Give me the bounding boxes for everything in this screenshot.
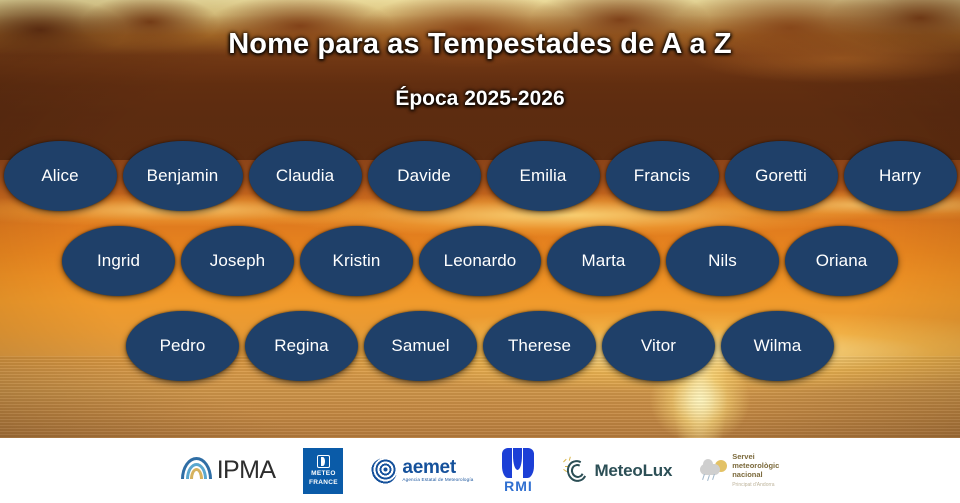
storm-name-pill[interactable]: Benjamin — [123, 141, 243, 211]
meteo-france-glyph-icon — [317, 455, 330, 468]
name-row-3: Pedro Regina Samuel Therese Vitor Wilma — [0, 311, 960, 381]
logo-andorra-line4: Principat d'Andorra — [732, 481, 779, 489]
logo-meteo-france-line2: FRANCE — [309, 479, 338, 487]
season-subtitle: Época 2025-2026 — [0, 87, 960, 111]
partner-logo-bar: IPMA METEO FRANCE aemet Agencia Estatal … — [0, 438, 960, 503]
storm-name-pill[interactable]: Regina — [245, 311, 358, 381]
storm-name-pill[interactable]: Kristin — [300, 226, 413, 296]
meteo-france-badge-icon: METEO FRANCE — [303, 448, 343, 494]
logo-andorra-line2: meteorològic — [732, 461, 779, 470]
logo-rmi[interactable]: RMI — [501, 448, 535, 494]
logo-andorra[interactable]: Servei meteorològic nacional Principat d… — [700, 448, 779, 494]
logo-meteo-france-line1: METEO — [311, 470, 336, 478]
storm-name-pill[interactable]: Goretti — [725, 141, 838, 211]
cloud-layer — [0, 0, 960, 160]
storm-name-pill[interactable]: Claudia — [249, 141, 362, 211]
storm-name-pill[interactable]: Leonardo — [419, 226, 541, 296]
meteolux-sun-crescent-icon — [563, 458, 589, 484]
logo-meteolux[interactable]: MeteoLux — [563, 448, 672, 494]
page-title: Nome para as Tempestades de A a Z — [0, 28, 960, 61]
logo-meteolux-label: MeteoLux — [594, 461, 672, 481]
storm-name-pill[interactable]: Alice — [4, 141, 117, 211]
storm-names-slide: Nome para as Tempestades de A a Z Época … — [0, 0, 960, 503]
logo-aemet-tagline: Agencia Estatal de Meteorología — [402, 477, 473, 483]
storm-name-pill[interactable]: Joseph — [181, 226, 294, 296]
logo-meteo-france[interactable]: METEO FRANCE — [303, 448, 343, 494]
storm-name-pill[interactable]: Pedro — [126, 311, 239, 381]
storm-name-pill[interactable]: Harry — [844, 141, 957, 211]
logo-andorra-line1: Servei — [732, 452, 779, 461]
storm-name-pill[interactable]: Davide — [368, 141, 481, 211]
logo-andorra-line3: nacional — [732, 470, 779, 479]
logo-rmi-label: RMI — [504, 478, 533, 494]
storm-name-pill[interactable]: Nils — [666, 226, 779, 296]
rmi-mark-icon — [501, 448, 535, 472]
storm-name-pill[interactable]: Oriana — [785, 226, 898, 296]
logo-andorra-text: Servei meteorològic nacional Principat d… — [732, 452, 779, 489]
storm-name-pill[interactable]: Samuel — [364, 311, 477, 381]
aemet-spiral-icon — [371, 458, 397, 484]
storm-name-pill[interactable]: Therese — [483, 311, 596, 381]
ipma-wave-icon — [181, 455, 212, 486]
name-row-2: Ingrid Joseph Kristin Leonardo Marta Nil… — [0, 226, 960, 296]
logo-aemet-label: aemet — [402, 458, 473, 477]
storm-name-pill[interactable]: Francis — [606, 141, 719, 211]
storm-name-pill[interactable]: Ingrid — [62, 226, 175, 296]
sun-cloud-rain-icon — [700, 458, 728, 484]
storm-name-pill[interactable]: Emilia — [487, 141, 600, 211]
storm-name-pill[interactable]: Wilma — [721, 311, 834, 381]
logo-aemet[interactable]: aemet Agencia Estatal de Meteorología — [371, 448, 473, 494]
storm-name-pill[interactable]: Vitor — [602, 311, 715, 381]
storm-name-pill[interactable]: Marta — [547, 226, 660, 296]
name-row-1: Alice Benjamin Claudia Davide Emilia Fra… — [0, 141, 960, 211]
logo-ipma[interactable]: IPMA — [181, 448, 276, 494]
logo-ipma-label: IPMA — [217, 456, 276, 485]
logo-aemet-text: aemet Agencia Estatal de Meteorología — [402, 458, 473, 483]
